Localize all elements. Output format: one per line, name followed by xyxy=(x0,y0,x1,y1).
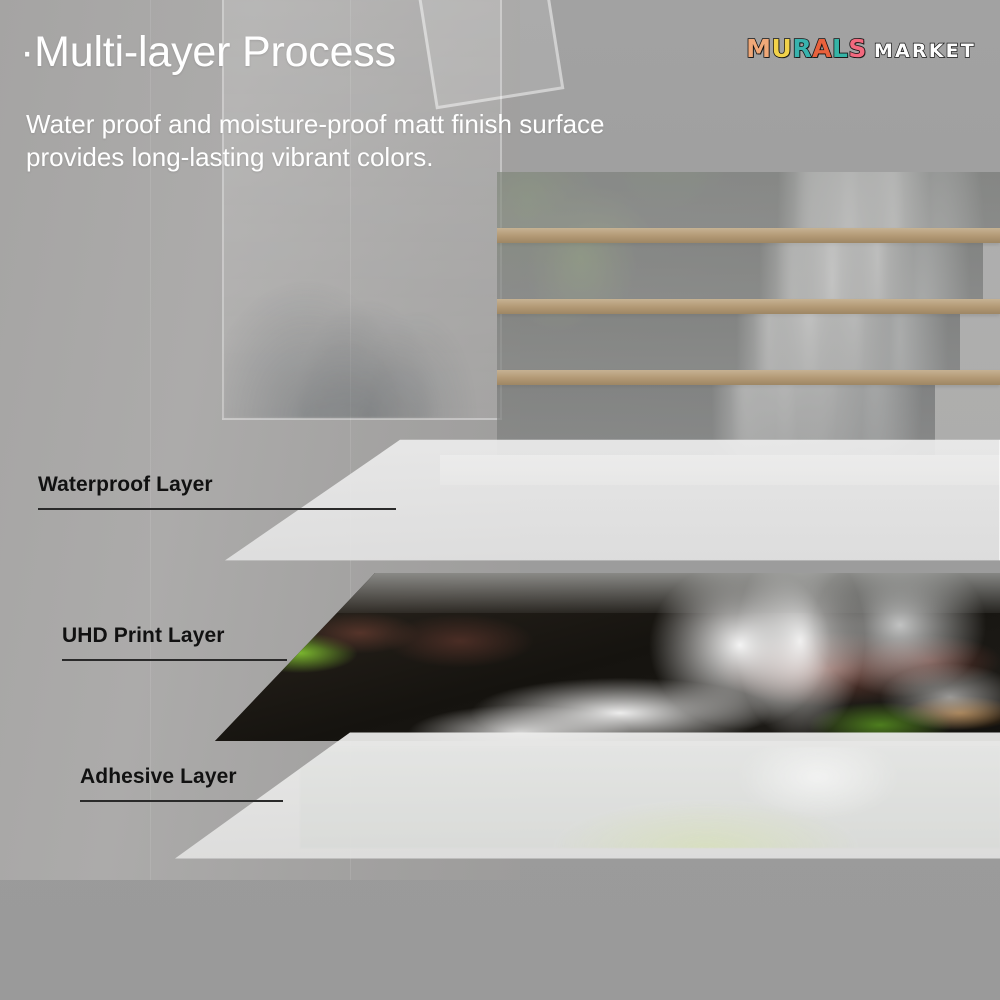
stair-tread xyxy=(497,228,1000,243)
callout-label: UHD Print Layer xyxy=(62,624,287,648)
logo-letter-l-4: L xyxy=(832,34,848,63)
stair-riser xyxy=(497,172,1000,234)
logo-letter-a-3: A xyxy=(812,34,832,63)
callout-rule xyxy=(38,508,396,510)
callout-rule xyxy=(62,659,287,661)
stair-tread xyxy=(497,370,1000,385)
callout-label: Waterproof Layer xyxy=(38,473,396,497)
brand-logo[interactable]: MURALS MARKET xyxy=(746,34,976,63)
subtitle-line-2: provides long-lasting vibrant colors. xyxy=(26,141,605,174)
page-subtitle: Water proof and moisture-proof matt fini… xyxy=(26,108,605,175)
subtitle-line-1: Water proof and moisture-proof matt fini… xyxy=(26,108,605,141)
stair-riser xyxy=(497,314,1000,376)
logo-letter-u-1: U xyxy=(772,34,793,63)
stair-tread xyxy=(497,299,1000,314)
stair-riser xyxy=(497,243,1000,305)
stair-mural xyxy=(497,243,983,305)
callout-waterproof-layer: Waterproof Layer xyxy=(38,473,396,510)
page-title: ·Multi-layer Process xyxy=(20,28,396,77)
callout-rule xyxy=(80,800,283,802)
logo-letter-r-2: R xyxy=(792,34,812,63)
adhesive-sheet-inner xyxy=(300,747,1000,849)
logo-letter-m-0: M xyxy=(746,34,771,63)
wall-art-image xyxy=(224,171,500,418)
callout-adhesive-layer: Adhesive Layer xyxy=(80,765,283,802)
logo-letter-s-5: S xyxy=(848,34,867,63)
logo-murals-wordmark: MURALS xyxy=(746,34,867,63)
callout-uhd-print-layer: UHD Print Layer xyxy=(62,624,287,661)
staircase xyxy=(497,0,1000,470)
callout-label: Adhesive Layer xyxy=(80,765,283,789)
stair-mural xyxy=(497,172,1000,234)
logo-market-wordmark: MARKET xyxy=(874,40,976,62)
stair-mural xyxy=(497,314,960,376)
